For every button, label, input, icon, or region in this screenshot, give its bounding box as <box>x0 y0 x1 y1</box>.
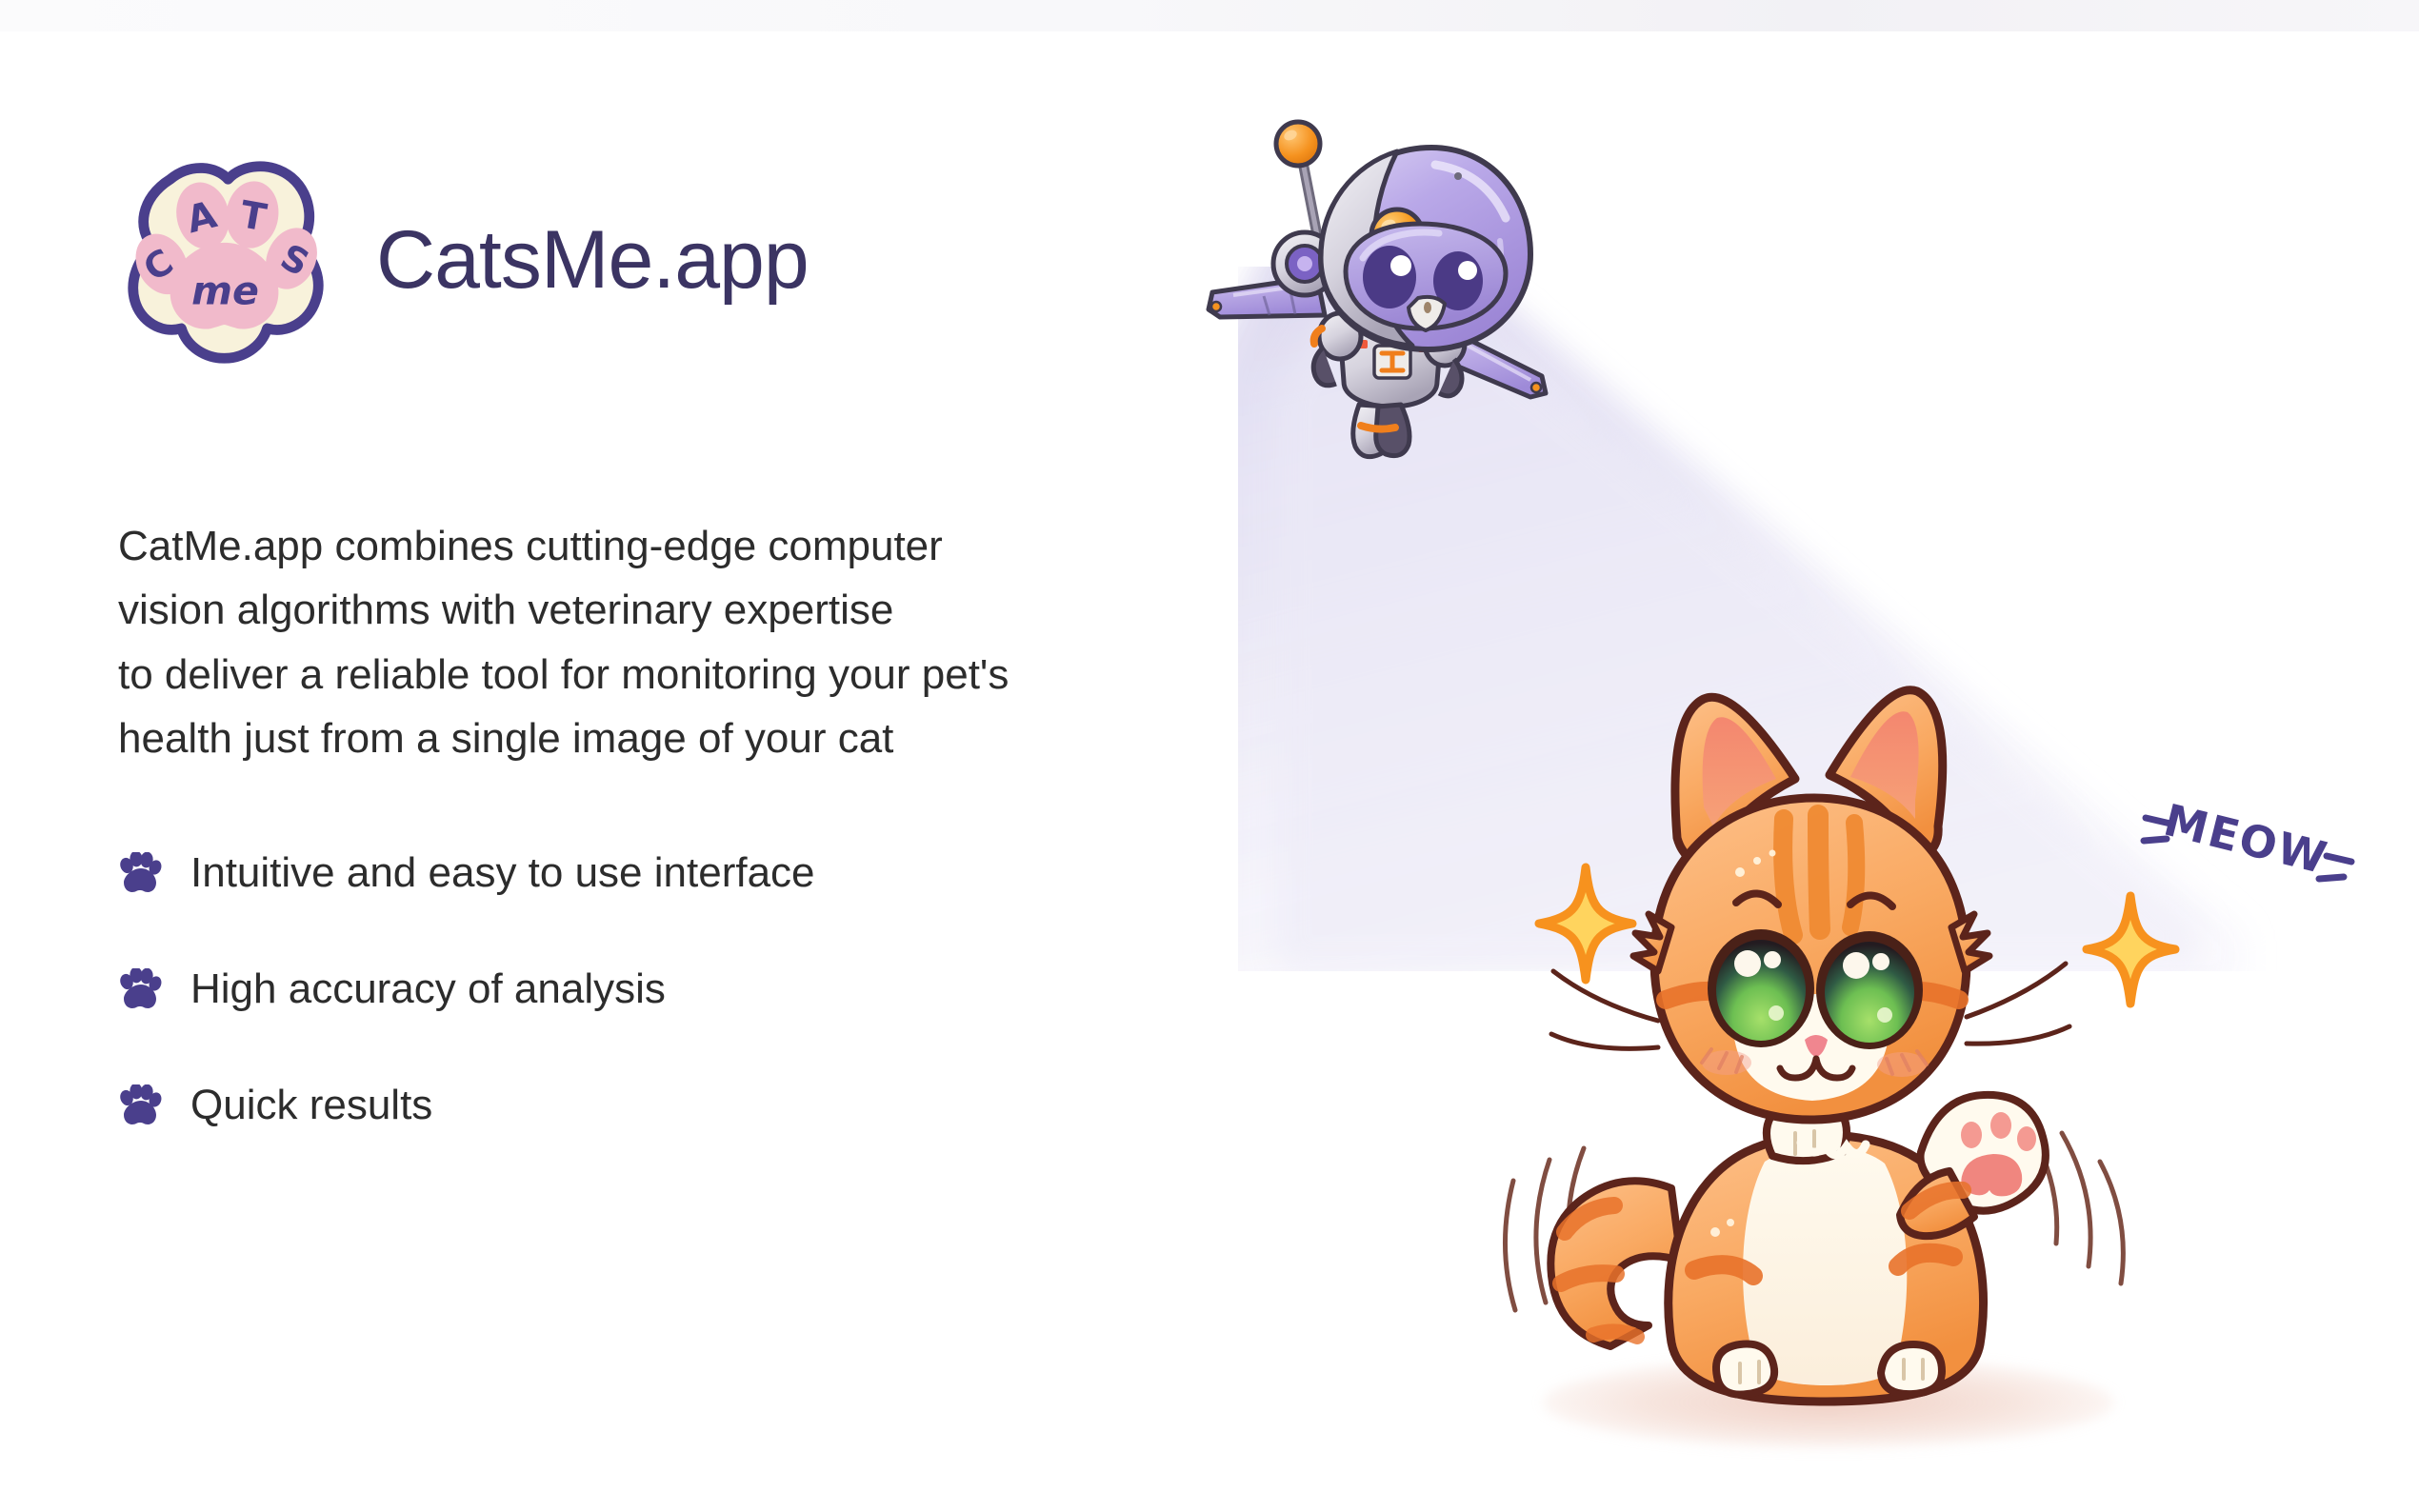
cat-waving-paw <box>1900 1095 2046 1236</box>
list-item-label: Quick results <box>190 1084 432 1126</box>
orange-tabby-cat-waving-icon <box>1490 686 2138 1419</box>
description-line: vision algorithms with veterinary expert… <box>118 578 1223 642</box>
description-line: to deliver a reliable tool for monitorin… <box>118 643 1223 706</box>
feature-list: Intuitive and easy to use interface High… <box>118 838 1128 1186</box>
paw-bullet-icon <box>118 852 162 894</box>
list-item: High accuracy of analysis <box>118 954 1128 1025</box>
list-item: Intuitive and easy to use interface <box>118 838 1128 908</box>
page-root: C A T S me CatsMe.app CatMe.app combines… <box>0 0 2419 1512</box>
left-content-column: C A T S me CatsMe.app CatMe.app combines… <box>0 0 1190 1512</box>
description-line: CatMe.app combines cutting-edge computer <box>118 514 1223 578</box>
cat-tail <box>1550 1181 1681 1346</box>
meow-speech-text: MEOW <box>2138 786 2357 900</box>
paw-bullet-icon <box>118 1084 162 1126</box>
brand-header: C A T S me CatsMe.app <box>112 148 809 371</box>
sparkle-icon <box>2081 890 2181 1009</box>
description-paragraph: CatMe.app combines cutting-edge computer… <box>118 514 1223 770</box>
list-item: Quick results <box>118 1070 1128 1141</box>
robot-antenna-icon <box>1276 122 1320 235</box>
sparkle-icon <box>1533 862 1638 985</box>
robot-helmet-icon <box>1321 148 1530 349</box>
page-title: CatsMe.app <box>376 219 809 301</box>
cats-me-paw-logo-icon: C A T S me <box>112 148 336 371</box>
paw-bullet-icon <box>118 968 162 1010</box>
list-item-label: Intuitive and easy to use interface <box>190 852 815 894</box>
meow-label: MEOW <box>2159 794 2333 885</box>
logo-center-text: me <box>191 269 259 314</box>
description-line: health just from a single image of your … <box>118 706 1223 770</box>
list-item-label: High accuracy of analysis <box>190 968 666 1010</box>
astronaut-robot-mascot-icon <box>1195 90 1576 471</box>
